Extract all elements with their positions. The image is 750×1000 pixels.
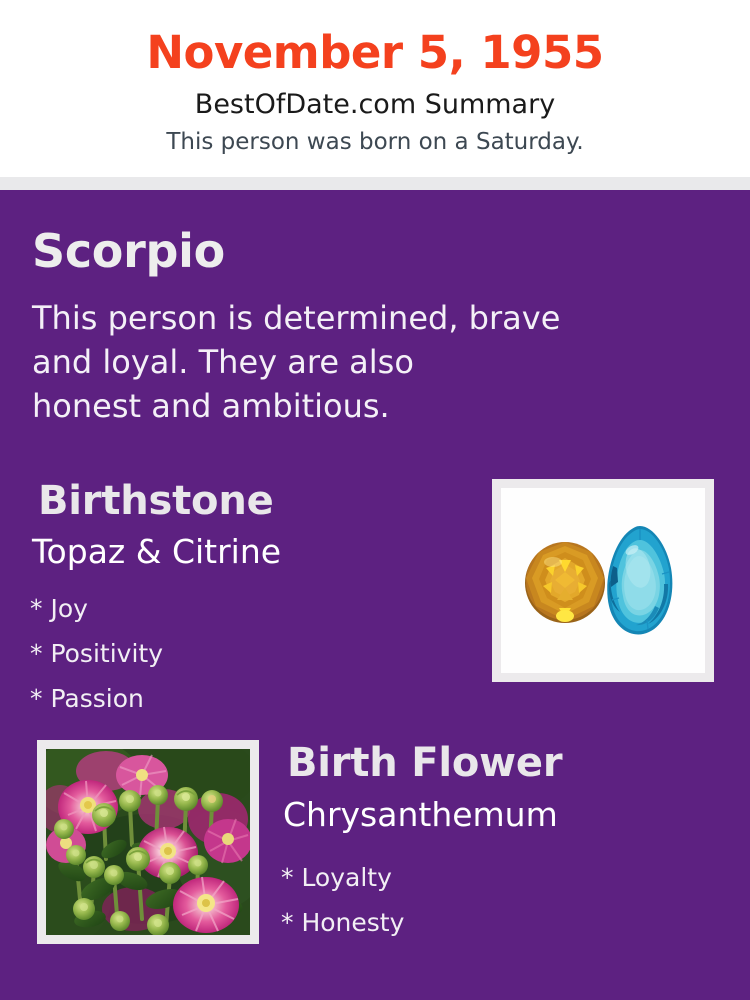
page-title-date: November 5, 1955 [0,25,750,81]
birth-flower-name: Chrysanthemum [283,794,558,836]
birth-flower-heading: Birth Flower [287,737,562,789]
zodiac-description-line: and loyal. They are also [32,340,702,384]
birthstone-heading: Birthstone [38,475,274,527]
chrysanthemum-illustration [46,749,250,935]
birth-flower-trait-list: * Loyalty * Honesty [281,855,701,945]
birth-flower-trait-item: * Honesty [281,900,701,945]
birthstone-trait-list: * Joy * Positivity * Passion [30,586,450,721]
zodiac-description-line: honest and ambitious. [32,384,702,428]
site-name-subtitle: BestOfDate.com Summary [0,88,750,122]
birthstone-name: Topaz & Citrine [32,531,281,573]
header-divider [0,177,750,190]
citrine-gem [525,542,605,623]
birthday-summary-card: November 5, 1955 BestOfDate.com Summary … [0,0,750,1000]
header: November 5, 1955 BestOfDate.com Summary … [0,0,750,177]
gemstones-illustration [501,488,705,673]
birthstone-trait-item: * Passion [30,676,450,721]
birth-flower-image-frame [37,740,259,944]
zodiac-description-line: This person is determined, brave [32,296,702,340]
zodiac-sign-title: Scorpio [32,222,225,280]
birthstone-trait-item: * Positivity [30,631,450,676]
birth-flower-image [46,749,250,935]
birthstone-image [501,488,705,673]
birthstone-trait-item: * Joy [30,586,450,631]
weekday-note: This person was born on a Saturday. [0,127,750,157]
birth-flower-trait-item: * Loyalty [281,855,701,900]
bloom [173,877,239,933]
zodiac-description: This person is determined, brave and loy… [32,296,702,428]
bloom [204,819,250,863]
birthstone-image-frame [492,479,714,682]
